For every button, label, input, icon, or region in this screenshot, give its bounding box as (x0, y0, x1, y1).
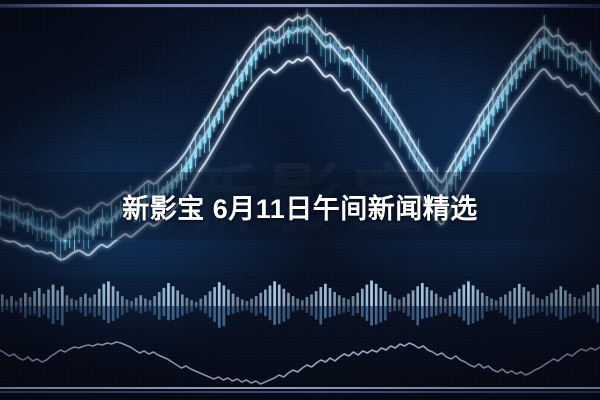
bottom-accent-rule (0, 387, 600, 389)
headline-title: 新影宝 6月11日午间新闻精选 (0, 172, 600, 240)
top-accent-rule-shadow (0, 7, 600, 8)
oscillator-line (0, 342, 600, 384)
thumbnail-canvas: 新影宝 新影宝 6月11日午间新闻精选 (0, 0, 600, 400)
bottom-accent-rule-secondary (0, 391, 600, 393)
